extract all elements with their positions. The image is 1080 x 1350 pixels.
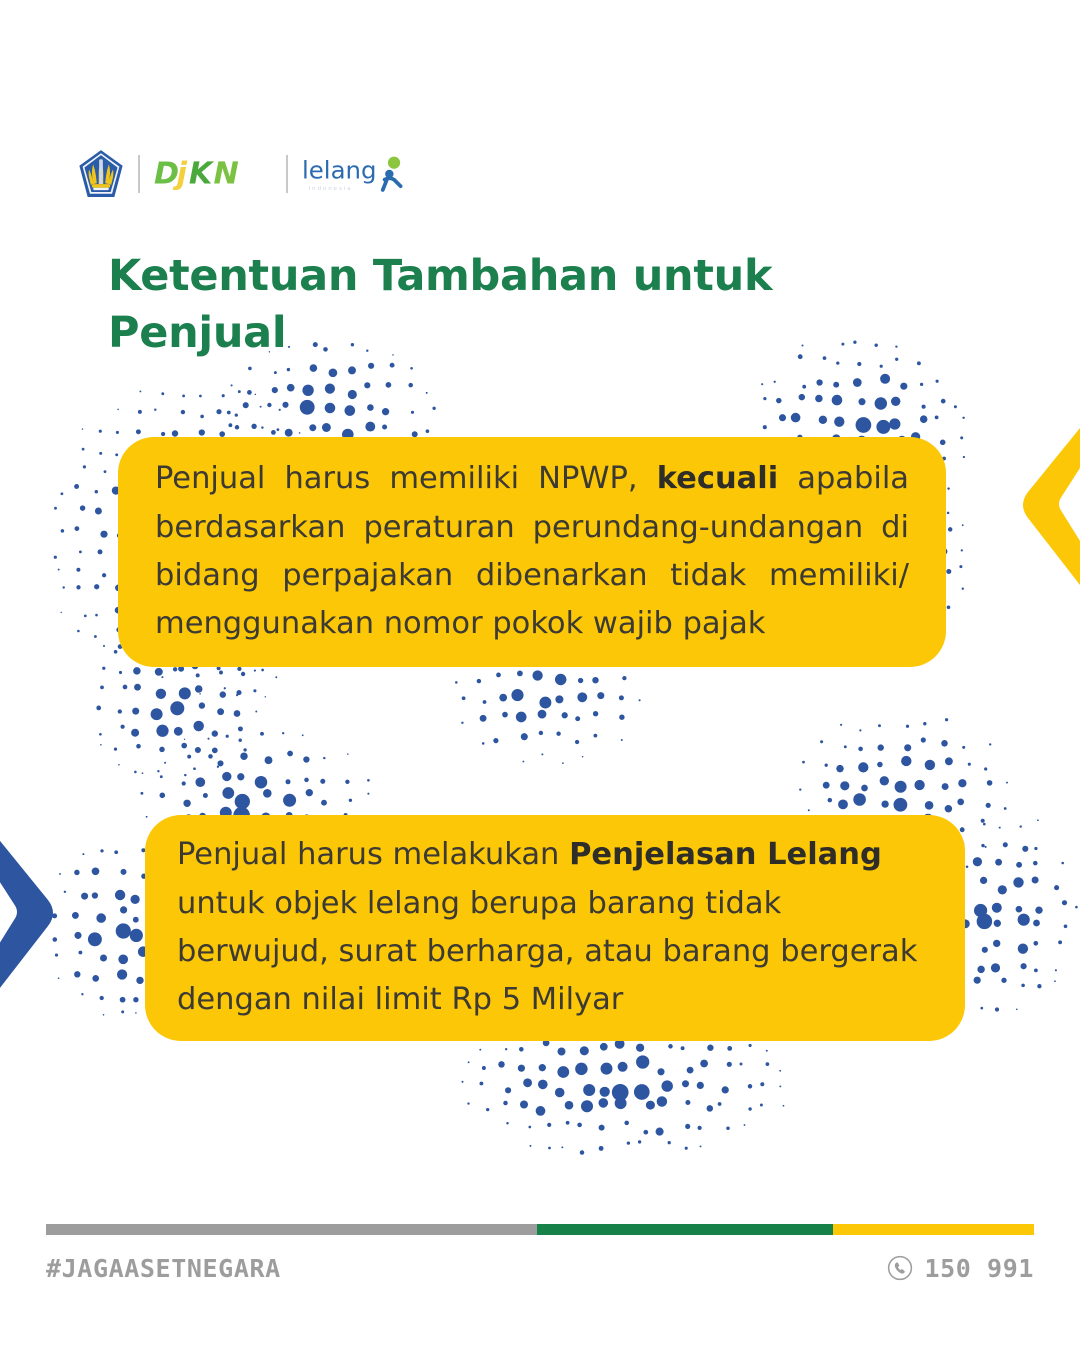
info-card-npwp: Penjual harus memiliki NPWP, kecuali apa… xyxy=(118,437,946,667)
footer-color-bar xyxy=(46,1224,1034,1235)
footer-phone-number: 150 991 xyxy=(924,1254,1034,1283)
info-card-penjelasan-lelang-text: Penjual harus melakukan Penjelasan Lelan… xyxy=(145,831,965,1025)
svg-text:lelang: lelang xyxy=(302,156,377,185)
djkn-wordmark: D j K N xyxy=(154,153,272,195)
phone-circle-icon xyxy=(887,1255,913,1281)
footer-bar-segment-yellow xyxy=(833,1224,1034,1235)
footer-bar-segment-gray xyxy=(46,1224,537,1235)
lelang-wordmark: lelang indonesia xyxy=(302,151,410,197)
footer-callcenter: 150 991 xyxy=(887,1254,1034,1283)
chevron-blue-left-edge xyxy=(0,836,53,993)
logo-divider-2 xyxy=(286,155,288,193)
page-title: Ketentuan Tambahan untuk Penjual xyxy=(108,248,868,362)
brand-logo-bar: D j K N lelang indonesia xyxy=(78,146,410,202)
page-title-line-1: Ketentuan Tambahan untuk xyxy=(108,248,868,305)
page-title-line-2: Penjual xyxy=(108,305,868,362)
footer-bar-segment-green xyxy=(537,1224,833,1235)
logo-divider-1 xyxy=(138,155,140,193)
chevron-yellow-right-edge xyxy=(1023,428,1080,585)
svg-text:indonesia: indonesia xyxy=(309,186,353,192)
info-card-npwp-text: Penjual harus memiliki NPWP, kecuali apa… xyxy=(118,455,946,649)
svg-text:N: N xyxy=(213,156,238,191)
decorative-background xyxy=(0,0,1080,1350)
info-card-penjelasan-lelang: Penjual harus melakukan Penjelasan Lelan… xyxy=(145,815,965,1041)
footer-hashtag: #JAGAASETNEGARA xyxy=(46,1254,281,1283)
svg-text:K: K xyxy=(189,156,215,191)
kemenkeu-pentagon-logo xyxy=(78,149,124,199)
footer-row: #JAGAASETNEGARA 150 991 xyxy=(46,1247,1034,1289)
svg-text:D: D xyxy=(154,156,179,191)
